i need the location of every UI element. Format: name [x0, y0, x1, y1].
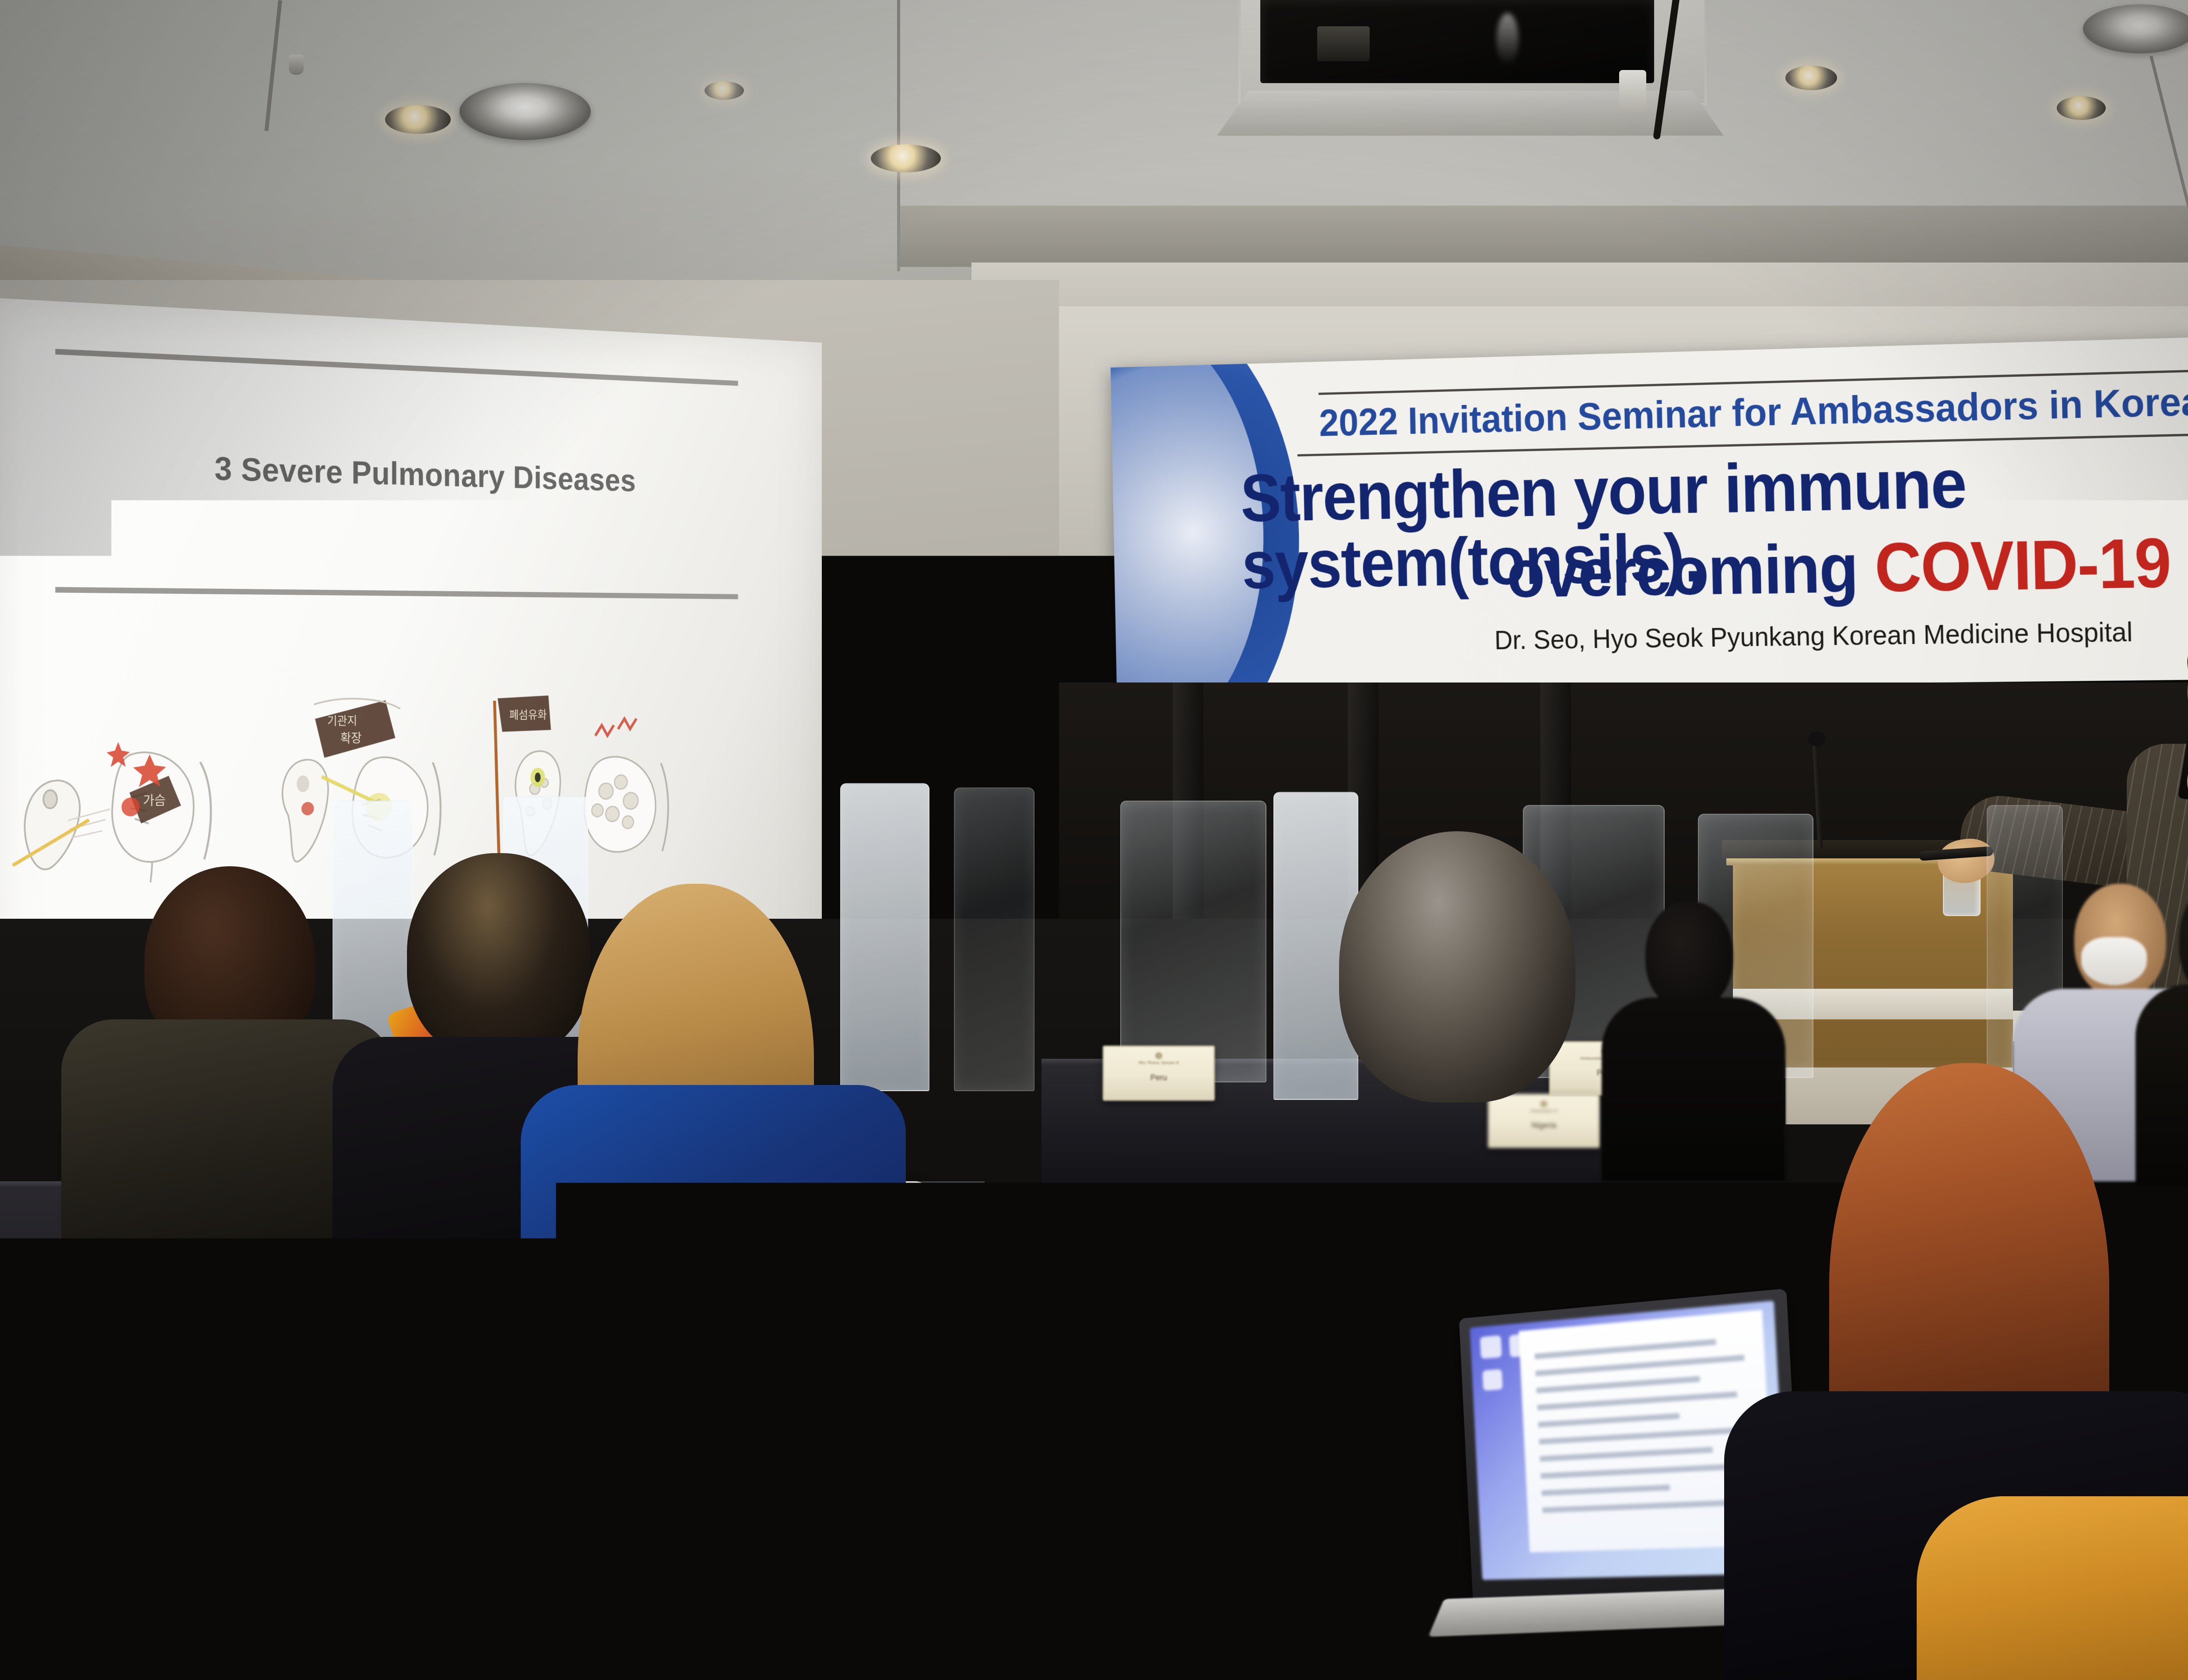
acrylic-divider [840, 783, 929, 1091]
banner-title-prefix: overcoming [1506, 529, 1876, 612]
svg-text:확장: 확장 [340, 731, 362, 746]
recessed-downlight-icon [385, 105, 451, 134]
slide-rule-bottom [55, 587, 738, 599]
banner-title-line-2: overcoming COVID-19 [1506, 523, 2171, 613]
ceiling-vent-icon [459, 83, 591, 140]
audience-hair [407, 853, 591, 1059]
projector-glare [1497, 13, 1518, 66]
emphysema-illustration-icon: 가슴 [4, 690, 236, 892]
projector-power-plug [1619, 70, 1646, 112]
cream-jacket [1125, 1227, 1484, 1643]
banner-eyebrow: 2022 Invitation Seminar for Ambassadors … [1318, 375, 2188, 445]
projector-mount-plate [1217, 91, 1723, 136]
audience-head [1645, 901, 1733, 1011]
recessed-downlight-icon [1785, 66, 1837, 90]
face-mask-icon [2081, 937, 2147, 985]
banner-speaker-credit: Dr. Seo, Hyo Seok Pyunkang Korean Medici… [1494, 616, 2133, 656]
conference-photo: 3 Severe Pulmonary Diseases [0, 0, 2188, 1680]
slide-title: 3 Severe Pulmonary Diseases [0, 442, 822, 504]
event-backdrop-banner: 2022 Invitation Seminar for Ambassadors … [1111, 325, 2188, 691]
banner-title-covid-highlight: COVID-19 [1874, 524, 2171, 606]
sprinkler-icon [289, 55, 304, 75]
svg-text:기관지: 기관지 [327, 714, 357, 728]
slide-rule-top [55, 349, 738, 386]
ceiling-seam [897, 0, 900, 271]
recessed-downlight-icon [871, 144, 941, 172]
projector-lens-icon [1317, 26, 1370, 61]
svg-text:가슴: 가슴 [143, 793, 166, 808]
recessed-downlight-icon [705, 81, 744, 100]
svg-text:폐섬유화: 폐섬유화 [509, 708, 547, 722]
recessed-downlight-icon [2057, 96, 2106, 120]
tan-jacket [1917, 1496, 2188, 1680]
acrylic-divider [954, 787, 1034, 1091]
ceiling-right-lip [897, 206, 2188, 267]
acrylic-divider [1120, 801, 1266, 1082]
microphone-head-icon [1808, 731, 1826, 746]
audience-body [2135, 984, 2188, 1186]
audience-body-patterned-dress [521, 1085, 906, 1575]
